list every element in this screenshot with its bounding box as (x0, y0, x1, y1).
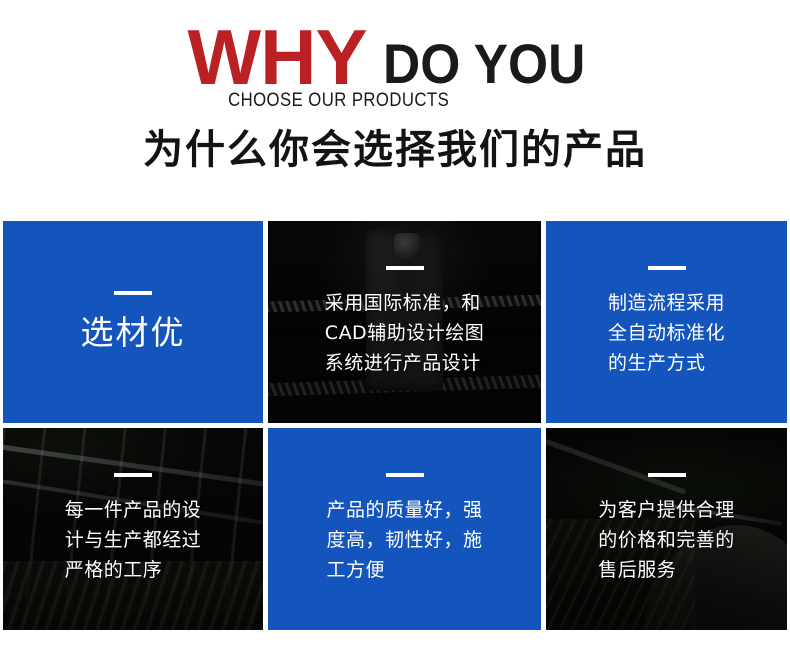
divider-rule-icon (386, 473, 424, 477)
divider-rule-icon (114, 291, 152, 295)
banner-header: WHY DO YOU CHOOSE OUR PRODUCTS 为什么你会选择我们… (0, 0, 790, 221)
feature-cell-6: 为客户提供合理 的价格和完善的 售后服务 (546, 428, 787, 630)
divider-rule-icon (648, 473, 686, 477)
feature-cell-4: 每一件产品的设 计与生产都经过 严格的工序 (3, 428, 263, 630)
feature-cell-5: 产品的质量好，强 度高，韧性好，施 工方便 (268, 428, 541, 630)
headline-subtitle: CHOOSE OUR PRODUCTS (0, 90, 790, 112)
feature-cell-6-content: 为客户提供合理 的价格和完善的 售后服务 (546, 428, 787, 630)
feature-cell-3-text: 制造流程采用 全自动标准化 的生产方式 (608, 288, 725, 378)
feature-cell-4-content: 每一件产品的设 计与生产都经过 严格的工序 (3, 428, 263, 630)
headline-chinese: 为什么你会选择我们的产品 (0, 126, 790, 174)
feature-cell-6-text: 为客户提供合理 的价格和完善的 售后服务 (598, 495, 735, 585)
headline-row: WHY DO YOU (0, 18, 790, 96)
feature-cell-2-text: 采用国际标准，和 CAD辅助设计绘图 系统进行产品设计 (325, 288, 484, 378)
headline-subtitle-text: CHOOSE OUR PRODUCTS (228, 90, 449, 112)
feature-cell-5-content: 产品的质量好，强 度高，韧性好，施 工方便 (268, 428, 541, 630)
divider-rule-icon (386, 266, 424, 270)
feature-cell-3: 制造流程采用 全自动标准化 的生产方式 (546, 221, 787, 423)
feature-cell-5-text: 产品的质量好，强 度高，韧性好，施 工方便 (326, 495, 482, 585)
headline-do-you: DO YOU (383, 35, 585, 96)
feature-cell-4-text: 每一件产品的设 计与生产都经过 严格的工序 (65, 495, 202, 585)
feature-cell-2-content: 采用国际标准，和 CAD辅助设计绘图 系统进行产品设计 (268, 221, 541, 423)
headline-why: WHY (188, 18, 367, 96)
feature-cell-2: 采用国际标准，和 CAD辅助设计绘图 系统进行产品设计 (268, 221, 541, 423)
divider-rule-icon (648, 266, 686, 270)
feature-cell-1: 选材优 (3, 221, 263, 423)
headline-chinese-text: 为什么你会选择我们的产品 (143, 126, 647, 174)
feature-cell-3-content: 制造流程采用 全自动标准化 的生产方式 (546, 221, 787, 423)
feature-cell-1-text: 选材优 (81, 313, 186, 353)
divider-rule-icon (114, 473, 152, 477)
feature-grid: 选材优 采用国际标准，和 CAD辅助设计绘图 系统进行产品设计 制造流程采用 全… (3, 221, 777, 640)
promo-banner: WHY DO YOU CHOOSE OUR PRODUCTS 为什么你会选择我们… (0, 0, 790, 665)
feature-cell-1-content: 选材优 (3, 221, 263, 423)
